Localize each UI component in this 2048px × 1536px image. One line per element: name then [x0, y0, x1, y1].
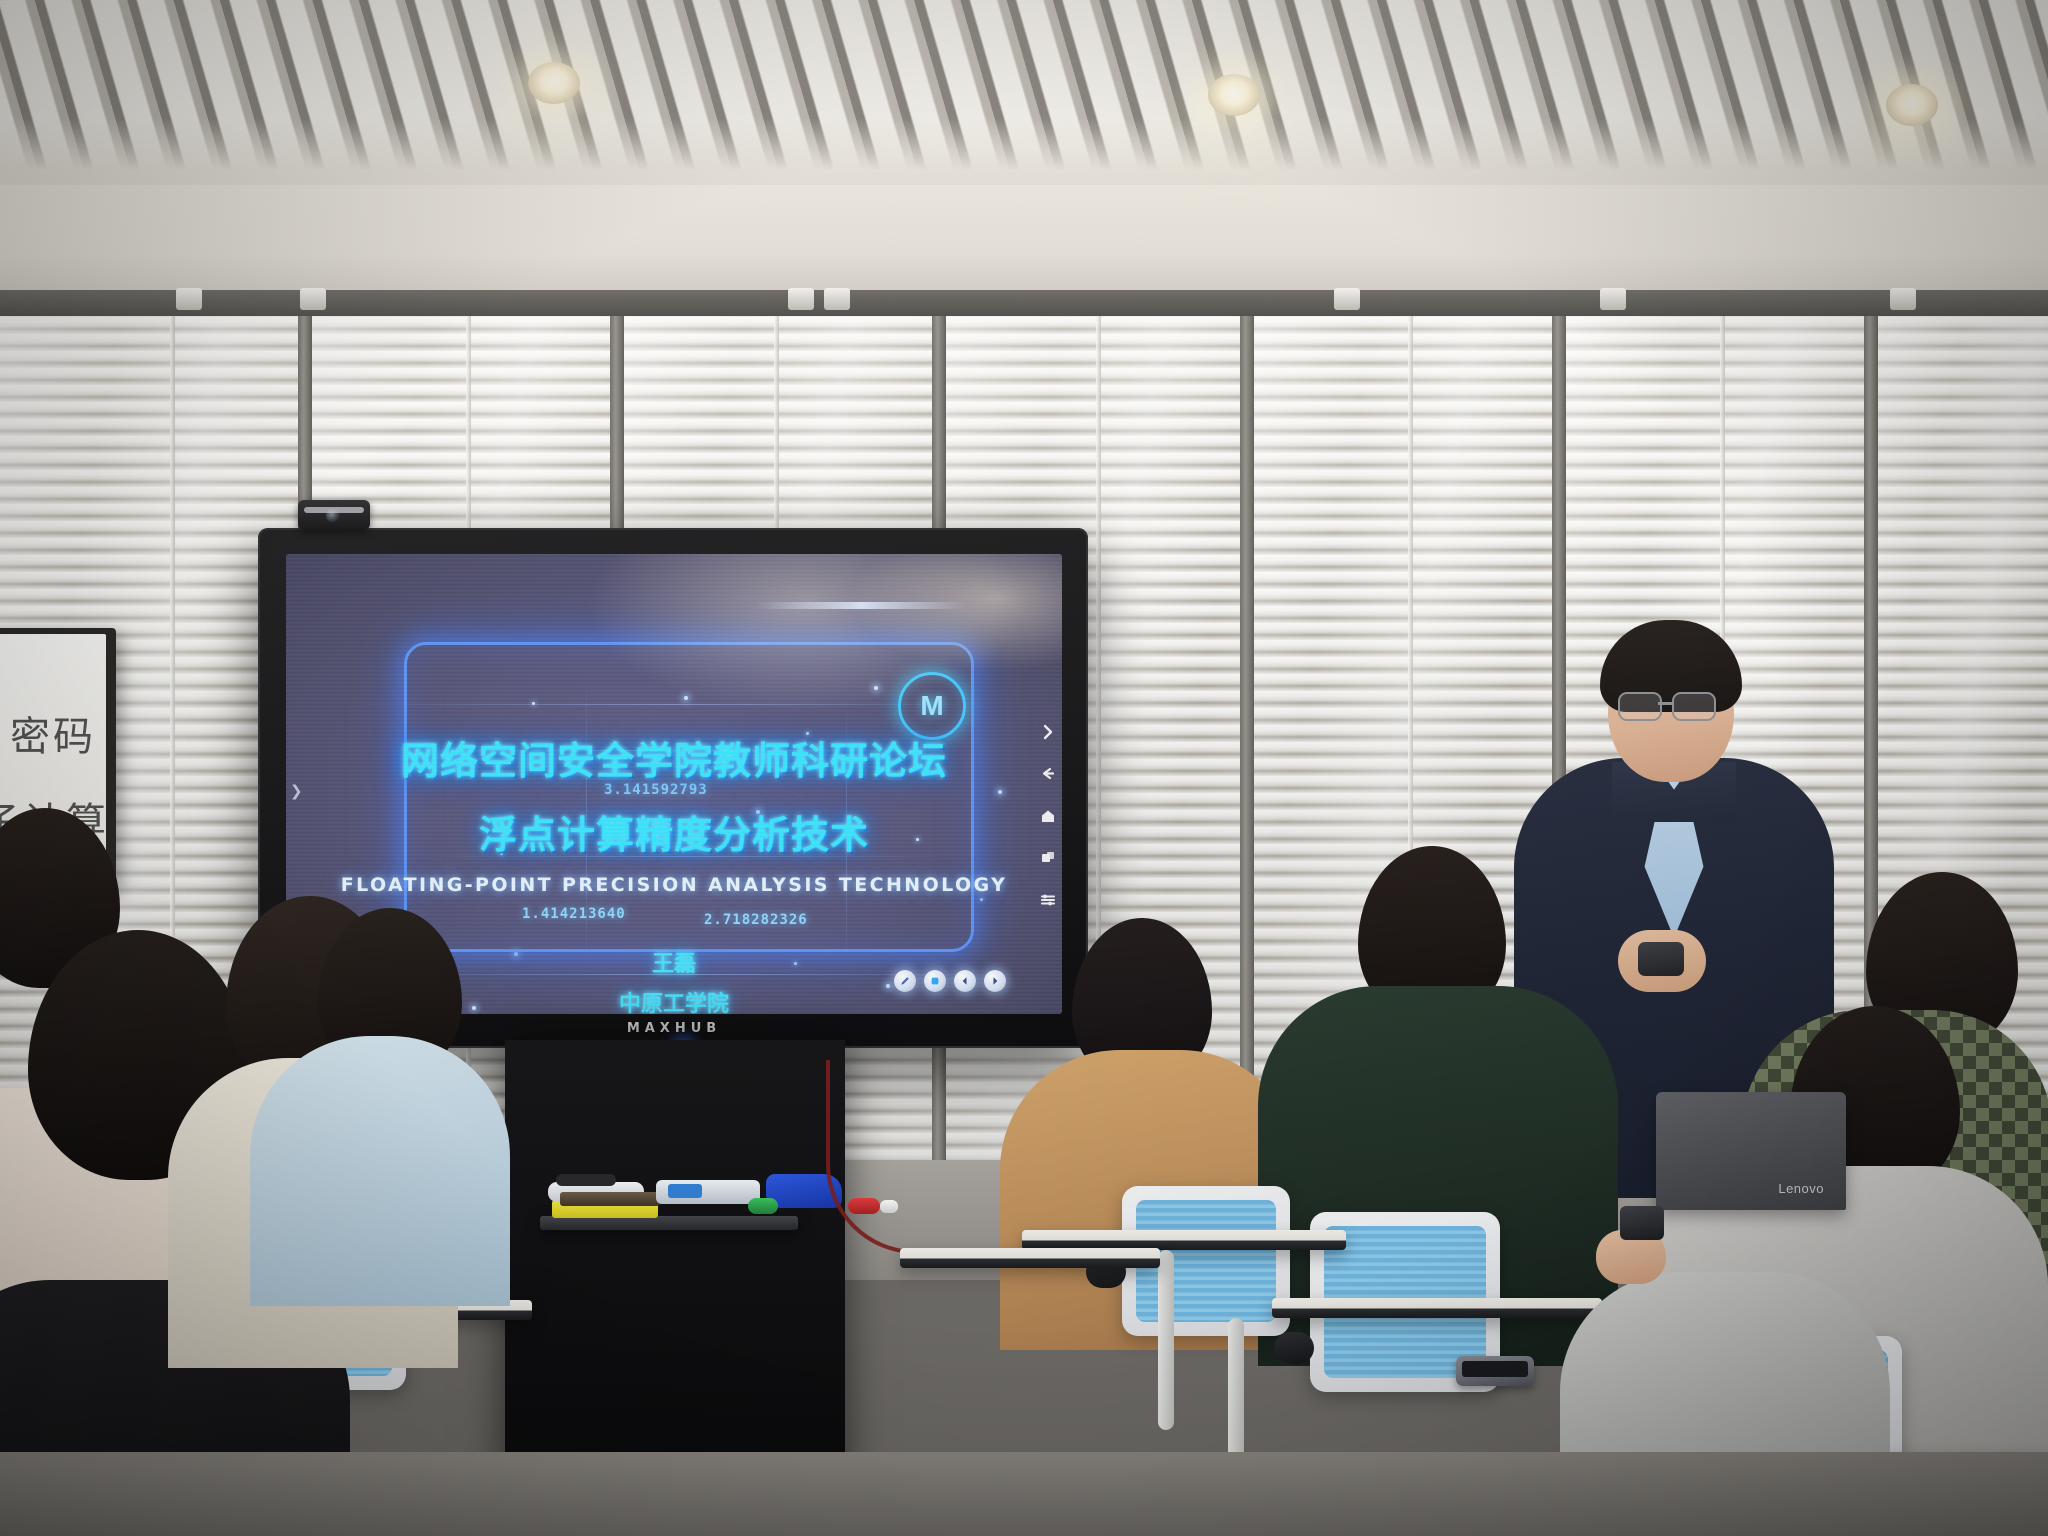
left-edge-handle-icon[interactable]: ❯: [290, 782, 303, 800]
shelf-item-marker-green[interactable]: [748, 1198, 778, 1214]
tablet-desk[interactable]: [1272, 1298, 1602, 1318]
ceiling: [0, 0, 2048, 310]
phone-screen: [1462, 1361, 1528, 1377]
blind-clip: [1890, 288, 1916, 310]
shelf-item-box[interactable]: [560, 1192, 660, 1206]
back-arrow-icon[interactable]: [1040, 766, 1056, 782]
presenter-glasses-right: [1672, 692, 1716, 721]
whiteboard-text-line1: 密码: [10, 704, 96, 762]
highlight-icon[interactable]: [924, 970, 946, 992]
chevron-right-icon[interactable]: [1040, 724, 1056, 740]
floor: [0, 1452, 2048, 1536]
next-icon[interactable]: [984, 970, 1006, 992]
blind-clip: [788, 288, 814, 310]
audience-body: [250, 1036, 510, 1306]
blind-clip: [824, 288, 850, 310]
lenovo-laptop[interactable]: Lenovo: [1656, 1092, 1846, 1210]
pen-icon[interactable]: [894, 970, 916, 992]
laptop-brand-label: Lenovo: [1778, 1181, 1824, 1196]
ceiling-downlight: [1886, 84, 1938, 126]
presenter-glasses-bridge: [1658, 702, 1674, 705]
display-edge-toolbar[interactable]: [1040, 724, 1056, 908]
webcam: [298, 500, 370, 530]
sliders-icon[interactable]: [1040, 892, 1056, 908]
ceiling-downlight: [528, 62, 580, 104]
slide-float-toolbar[interactable]: [894, 970, 1006, 992]
previous-icon[interactable]: [954, 970, 976, 992]
smartphone-on-desk[interactable]: [1456, 1356, 1534, 1386]
webcam-body-highlight: [304, 507, 364, 513]
blind-clip: [300, 288, 326, 310]
presenter-glasses-left: [1618, 692, 1662, 721]
home-icon[interactable]: [1040, 808, 1056, 824]
classroom-seminar-scene: 密码 子计算: [0, 0, 2048, 1536]
desk-support-post: [1158, 1250, 1174, 1430]
tablet-desk[interactable]: [1022, 1230, 1346, 1250]
shelf-item-label-blue: [668, 1184, 702, 1198]
windows-icon[interactable]: [1040, 850, 1056, 866]
tablet-desk[interactable]: [900, 1248, 1160, 1268]
panel-light-reflection: [756, 602, 966, 609]
handheld-device[interactable]: [1620, 1206, 1664, 1240]
ceiling-baffles: [0, 0, 2048, 200]
blind-clip: [176, 288, 202, 310]
blind-clip: [1334, 288, 1360, 310]
ceiling-downlight: [1208, 74, 1260, 116]
blind-clip: [1600, 288, 1626, 310]
cart-accessory-shelf: [540, 1216, 798, 1230]
shelf-item-glasses[interactable]: [556, 1174, 616, 1186]
maxhub-brand-label: MAXHUB: [627, 1021, 721, 1036]
presentation-clicker[interactable]: [1638, 942, 1684, 976]
desk-pivot-knuckle: [1274, 1332, 1314, 1364]
